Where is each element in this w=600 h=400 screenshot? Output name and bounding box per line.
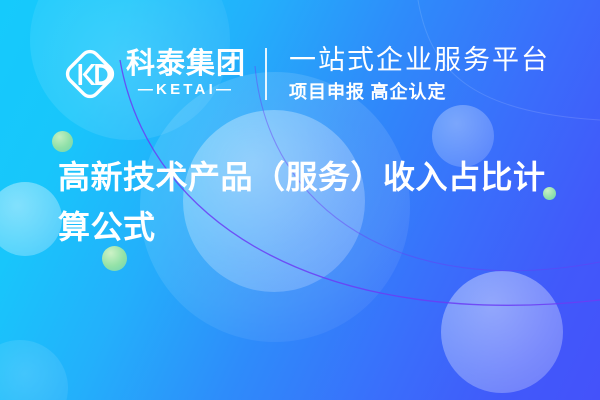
tagline-block: 一站式企业服务平台 项目申报 高企认定 [289, 45, 550, 104]
brand-name-en: —KETAI— [126, 82, 246, 99]
ketai-kd-monogram-icon [62, 46, 118, 102]
brand-wordmark: 科泰集团 —KETAI— [126, 49, 246, 99]
brand-logo: 科泰集团 —KETAI— [62, 46, 246, 102]
tagline-secondary: 项目申报 高企认定 [289, 82, 550, 104]
promo-banner: 科泰集团 —KETAI— 一站式企业服务平台 项目申报 高企认定 高新技术产品（… [0, 0, 600, 400]
banner-header: 科泰集团 —KETAI— 一站式企业服务平台 项目申报 高企认定 [0, 38, 600, 110]
brand-name-cn: 科泰集团 [126, 49, 246, 79]
tagline-primary: 一站式企业服务平台 [289, 45, 550, 76]
header-divider [265, 48, 267, 100]
page-title: 高新技术产品（服务）收入占比计算公式 [58, 152, 570, 252]
